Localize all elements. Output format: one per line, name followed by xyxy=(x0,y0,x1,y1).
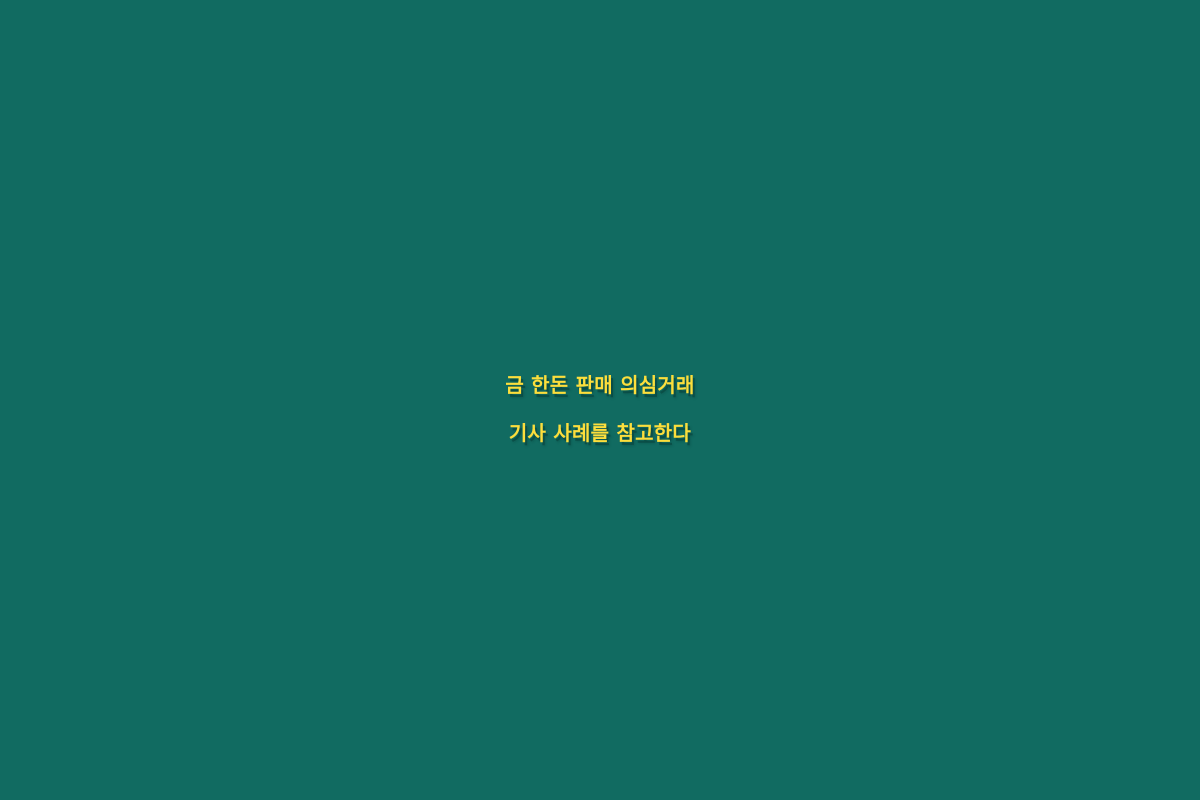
headline-line-2: 기사 사례를 참고한다 xyxy=(0,423,1200,443)
headline-line-1: 금 한돈 판매 의심거래 xyxy=(0,375,1200,395)
quote-card: 금 한돈 판매 의심거래 기사 사례를 참고한다 xyxy=(0,0,1200,800)
headline-block: 금 한돈 판매 의심거래 기사 사례를 참고한다 xyxy=(0,357,1200,444)
